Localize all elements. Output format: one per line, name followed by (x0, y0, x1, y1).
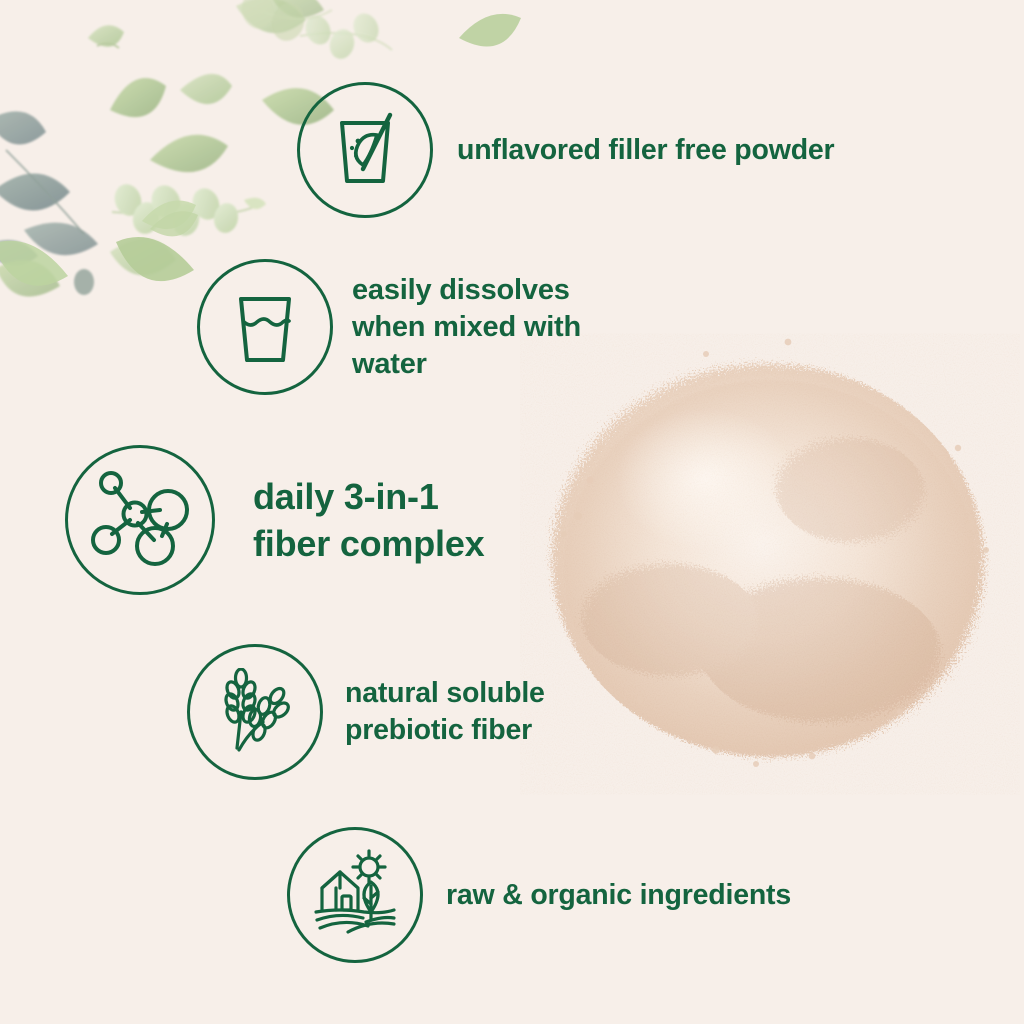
scatter-leaf-edge-left (0, 230, 76, 300)
feature-label: easily dissolves when mixed with water (352, 272, 581, 383)
water-glass-icon (197, 259, 333, 395)
feature-item-prebiotic-fiber: natural soluble prebiotic fiber (187, 644, 545, 780)
feature-item-unflavored-filler-free-powder: unflavored filler free powder (297, 82, 834, 218)
scatter-leaf-center (148, 205, 200, 249)
feature-item-raw-organic: raw & organic ingredients (287, 827, 791, 963)
scatter-leaf-top-center (455, 8, 525, 66)
feature-label: unflavored filler free powder (457, 132, 834, 168)
feature-item-fiber-complex: daily 3-in-1 fiber complex (65, 445, 484, 595)
wheat-stalks-icon (187, 644, 323, 780)
feature-label: natural soluble prebiotic fiber (345, 675, 545, 749)
molecule-icon (65, 445, 215, 595)
powder-pile-image (520, 320, 1020, 820)
feature-label: daily 3-in-1 fiber complex (253, 473, 484, 567)
scatter-leaf-mid-left (140, 195, 198, 245)
feature-label: raw & organic ingredients (446, 877, 791, 913)
scatter-leaf-lower-left (110, 222, 200, 294)
farm-scene-icon (287, 827, 423, 963)
feature-item-easily-dissolves: easily dissolves when mixed with water (197, 259, 581, 395)
cup-with-straw-and-powder-icon (297, 82, 433, 218)
infographic-canvas: unflavored filler free powder easily dis… (0, 0, 1024, 1024)
